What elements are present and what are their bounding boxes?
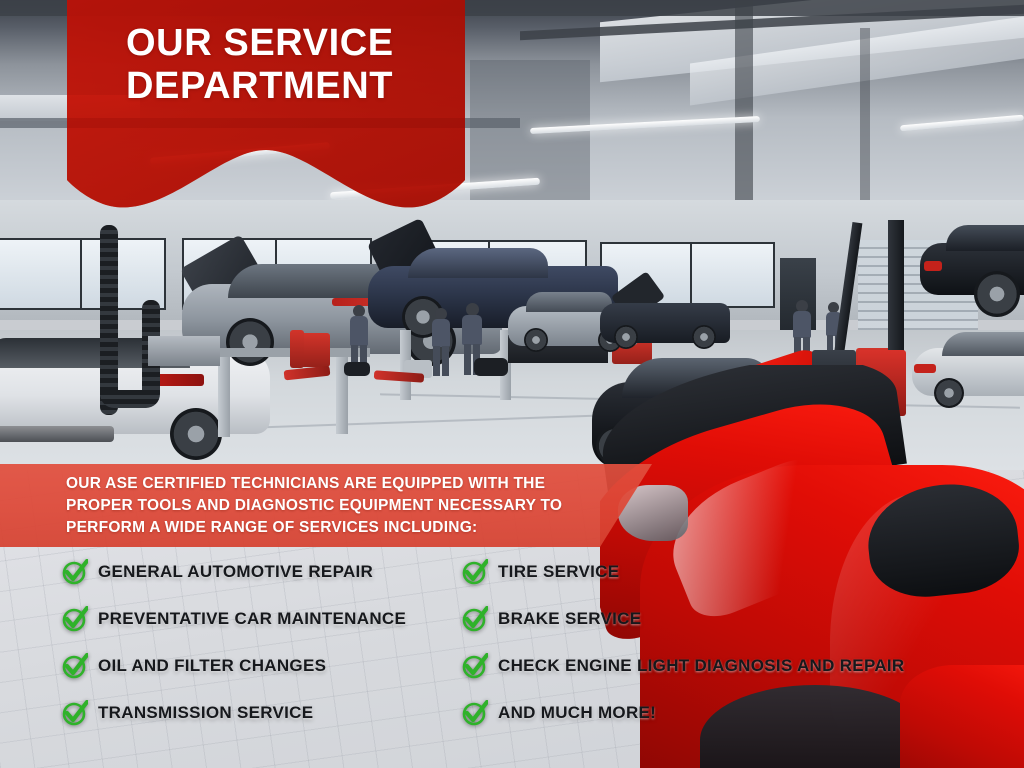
tail-light: [924, 261, 942, 271]
services-checklist: GENERAL AUTOMOTIVE REPAIR PREVENTATIVE C…: [0, 548, 1024, 748]
intro-line-3: PERFORM A WIDE RANGE OF SERVICES INCLUDI…: [66, 517, 626, 539]
list-item-label: GENERAL AUTOMOTIVE REPAIR: [98, 562, 373, 582]
roof-beam: [860, 28, 870, 218]
green-check-icon: [462, 653, 488, 679]
tire: [474, 358, 508, 376]
list-item[interactable]: BRAKE SERVICE: [462, 595, 1002, 642]
exhaust: [0, 426, 114, 442]
exhaust-extraction-hose: [100, 225, 118, 415]
intro-line-1: OUR ASE CERTIFIED TECHNICIANS ARE EQUIPP…: [66, 473, 626, 495]
dark-suv-hatch-open: [600, 285, 730, 351]
green-check-icon: [62, 559, 88, 585]
list-item-label: PREVENTATIVE CAR MAINTENANCE: [98, 609, 406, 629]
vehicle-lift-post: [218, 355, 230, 437]
tire: [344, 362, 370, 376]
list-item[interactable]: CHECK ENGINE LIGHT DIAGNOSIS AND REPAIR: [462, 642, 1002, 689]
list-item-label: TIRE SERVICE: [498, 562, 619, 582]
list-item[interactable]: TRANSMISSION SERVICE: [62, 689, 462, 736]
green-check-icon: [62, 606, 88, 632]
list-item-label: TRANSMISSION SERVICE: [98, 703, 313, 723]
intro-line-2: PROPER TOOLS AND DIAGNOSTIC EQUIPMENT NE…: [66, 495, 626, 517]
service-department-poster: OUR SERVICE DEPARTMENT OUR ASE CERTIFIED…: [0, 0, 1024, 768]
green-check-icon: [62, 653, 88, 679]
list-item[interactable]: AND MUCH MORE!: [462, 689, 1002, 736]
window-mullion: [80, 238, 82, 310]
garage-window: [0, 238, 166, 310]
services-column-right: TIRE SERVICE BRAKE SERVICE CHECK ENGINE …: [462, 548, 1002, 736]
list-item[interactable]: OIL AND FILTER CHANGES: [62, 642, 462, 689]
list-item[interactable]: GENERAL AUTOMOTIVE REPAIR: [62, 548, 462, 595]
list-item-label: AND MUCH MORE!: [498, 703, 656, 723]
roof-beam: [735, 0, 753, 215]
green-check-icon: [462, 606, 488, 632]
list-item-label: CHECK ENGINE LIGHT DIAGNOSIS AND REPAIR: [498, 656, 905, 676]
page-title-line1: OUR SERVICE: [126, 22, 466, 65]
roof-beam: [470, 60, 590, 220]
list-item[interactable]: TIRE SERVICE: [462, 548, 1002, 595]
workbench: [148, 336, 220, 366]
list-item-label: BRAKE SERVICE: [498, 609, 641, 629]
tool-chest: [290, 330, 304, 368]
tool-chest: [300, 333, 330, 367]
green-check-icon: [462, 700, 488, 726]
green-check-icon: [62, 700, 88, 726]
intro-text: OUR ASE CERTIFIED TECHNICIANS ARE EQUIPP…: [66, 473, 626, 539]
technician: [432, 308, 450, 376]
page-title-line2: DEPARTMENT: [126, 65, 466, 108]
page-title: OUR SERVICE DEPARTMENT: [126, 22, 466, 107]
services-column-left: GENERAL AUTOMOTIVE REPAIR PREVENTATIVE C…: [62, 548, 462, 736]
list-item[interactable]: PREVENTATIVE CAR MAINTENANCE: [62, 595, 462, 642]
list-item-label: OIL AND FILTER CHANGES: [98, 656, 326, 676]
black-suv-on-lift: [920, 225, 1024, 315]
green-check-icon: [462, 559, 488, 585]
